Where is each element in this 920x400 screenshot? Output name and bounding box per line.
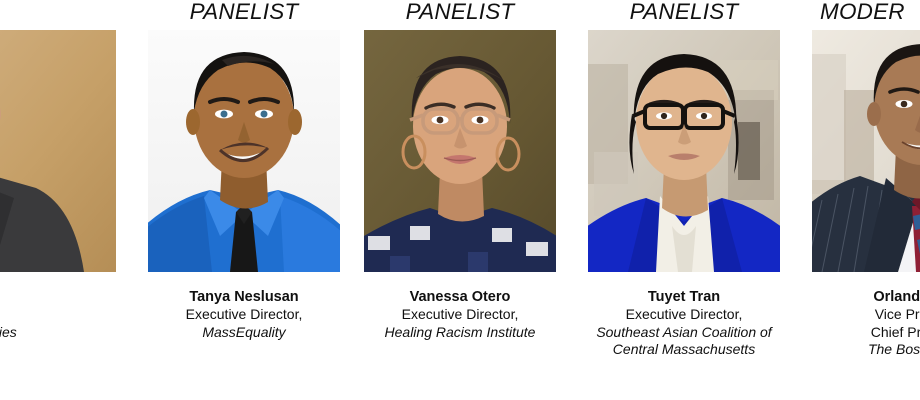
role-label: PANELIST [364, 0, 556, 24]
panelist-card-orlando-watkins: MODER [812, 0, 920, 400]
role-label: PANELIST [148, 0, 340, 24]
panelist-title: esident, [0, 306, 62, 324]
panelist-card-vanessa-otero: PANELIST [364, 0, 556, 400]
panelist-caption-orlando-watkins: Orlando W Vice Presid Chief Progra The B… [812, 288, 920, 359]
panelist-title: Vice Presid [812, 306, 920, 324]
panelist-card-josh-kraft: NELIST [0, 0, 116, 400]
panelist-caption-josh-kraft: h Kraft esident, y Philanthropies [0, 288, 62, 341]
panelist-photo-tanya-neslusan [148, 30, 340, 272]
panelist-organization: The Boston F [812, 341, 920, 359]
panelist-photo-josh-kraft [0, 30, 116, 272]
panelist-photo-orlando-watkins [812, 30, 920, 272]
role-label: MODER [820, 0, 905, 24]
panelist-organization-line1: Southeast Asian Coalition of [588, 324, 780, 342]
panelist-name: Tuyet Tran [588, 288, 780, 306]
role-label: PANELIST [588, 0, 780, 24]
panelist-caption-vanessa-otero: Vanessa Otero Executive Director, Healin… [364, 288, 556, 341]
panelist-strip: NELIST [0, 0, 920, 400]
panelist-title: Executive Director, [148, 306, 340, 324]
panelist-photo-tuyet-tran [588, 30, 780, 272]
panelist-caption-tuyet-tran: Tuyet Tran Executive Director, Southeast… [588, 288, 780, 359]
panelist-organization: Healing Racism Institute [364, 324, 556, 342]
panelist-card-tanya-neslusan: PANELIST [148, 0, 340, 400]
panelist-title: Executive Director, [364, 306, 556, 324]
panelist-name: Orlando W [812, 288, 920, 306]
panelist-name: Vanessa Otero [364, 288, 556, 306]
panelist-name: h Kraft [0, 288, 62, 306]
panelist-photo-vanessa-otero [364, 30, 556, 272]
panelist-caption-tanya-neslusan: Tanya Neslusan Executive Director, MassE… [148, 288, 340, 341]
panelist-organization: y Philanthropies [0, 324, 62, 342]
panelist-title-line2: Chief Progra [812, 324, 920, 342]
panelist-title: Executive Director, [588, 306, 780, 324]
panelist-name: Tanya Neslusan [148, 288, 340, 306]
panelist-card-tuyet-tran: PANELIST [588, 0, 780, 400]
panelist-organization-line2: Central Massachusetts [588, 341, 780, 359]
panelist-organization: MassEquality [148, 324, 340, 342]
